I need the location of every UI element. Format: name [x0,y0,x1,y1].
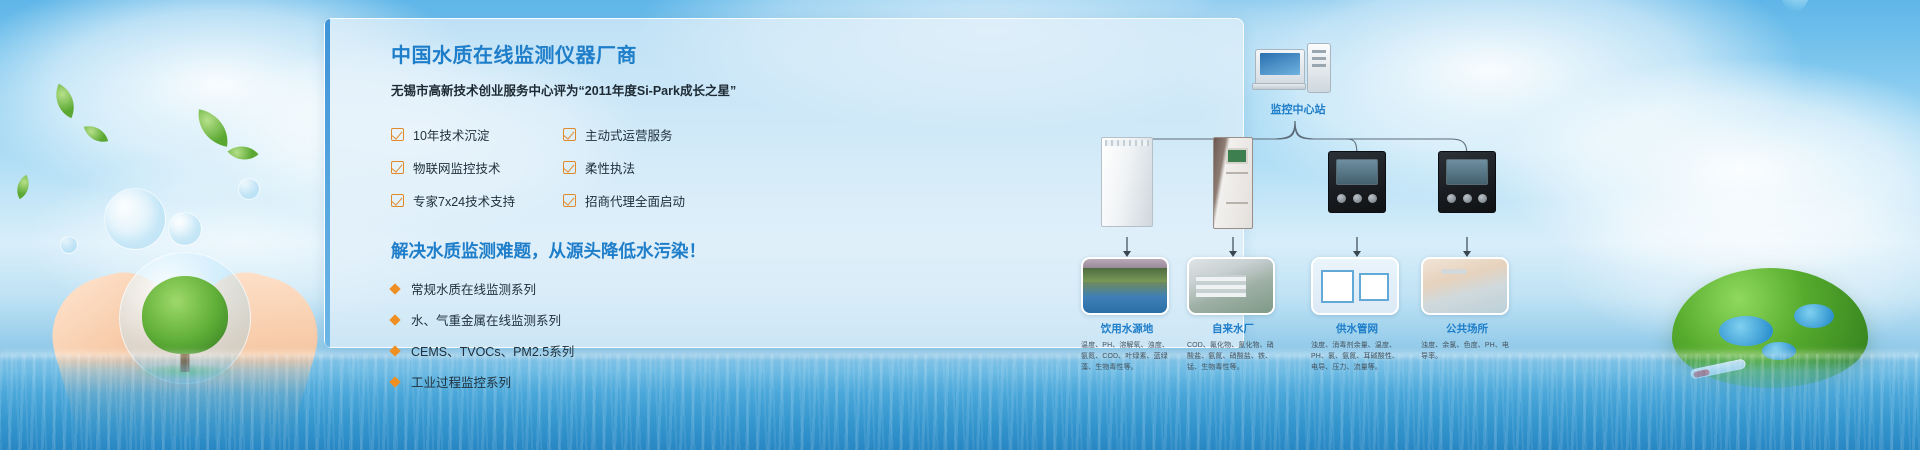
product-line-label: CEMS、TVOCs、PM2.5系列 [411,341,574,360]
panel-accent-bar [325,19,330,347]
section-title: 解决水质监测难题，从源头降低水污染！ [391,238,751,263]
product-line-item[interactable]: 工业过程监控系列 [391,372,751,391]
scene-photo-drinking-water-source [1081,257,1169,315]
leaf-icon [48,84,83,119]
analyzer-label-line [1226,172,1248,174]
controller-buttons [1447,191,1487,205]
device-water-cabinet[interactable] [1096,137,1158,227]
feature-label: 专家7x24技术支持 [413,191,515,210]
scene-card[interactable]: 饮用水源地 温度、PH、溶解氧、浊度、氨氮、COD、叶绿素、蓝绿藻、生物毒性等。 [1081,257,1173,374]
feature-item[interactable]: 10年技术沉淀 [391,125,563,144]
feature-item[interactable]: 柔性执法 [563,158,733,177]
device-plant-analyzer[interactable] [1202,137,1264,229]
product-line-list: 常规水质在线监测系列 水、气重金属在线监测系列 CEMS、TVOCs、PM2.5… [391,279,751,391]
controller-lcd [1336,159,1378,185]
page-title: 中国水质在线监测仪器厂商 [391,39,751,68]
analyzer-screen [1226,148,1248,164]
feature-item[interactable]: 主动式运营服务 [563,125,733,144]
scene-title: 供水管网 [1311,321,1403,336]
page-subtitle: 无锡市高新技术创业服务中心评为“2011年度Si-Park成长之星” [391,80,751,99]
checkbox-checked-icon [391,194,404,207]
leaf-icon [228,138,259,169]
cloud-decoration [1500,60,1920,280]
feature-list: 10年技术沉淀 主动式运营服务 物联网监控技术 柔性执法 专家7x24技术支持 … [391,125,751,210]
leaf-icon [84,122,108,146]
scene-photo-supply-network [1311,257,1399,315]
left-text-column: 中国水质在线监测仪器厂商 无锡市高新技术创业服务中心评为“2011年度Si-Pa… [391,39,751,403]
checkbox-checked-icon [563,128,576,141]
checkbox-checked-icon [563,161,576,174]
scene-photo-water-plant [1187,257,1275,315]
feature-item[interactable]: 专家7x24技术支持 [391,191,563,210]
feature-label: 10年技术沉淀 [413,125,489,144]
checkbox-checked-icon [391,128,404,141]
scene-photo-public-place [1421,257,1509,315]
feature-item[interactable]: 招商代理全面启动 [563,191,733,210]
feature-label: 物联网监控技术 [413,158,501,177]
controller-icon [1438,151,1496,213]
diamond-bullet-icon [389,283,400,294]
scene-description: COD、氟化物、氰化物、硝酸盐、氨氮、硝酸盐、铁、锰、生物毒性等。 [1187,341,1279,374]
product-line-label: 水、气重金属在线监测系列 [411,310,561,329]
diamond-bullet-icon [389,345,400,356]
scene-card[interactable]: 自来水厂 COD、氟化物、氰化物、硝酸盐、氨氮、硝酸盐、铁、锰、生物毒性等。 [1187,257,1279,374]
system-diagram: 监控中心站 [1095,39,1515,359]
diamond-bullet-icon [389,376,400,387]
scene-title: 自来水厂 [1187,321,1279,336]
product-line-label: 工业过程监控系列 [411,372,511,391]
scene-title: 公共场所 [1421,321,1513,336]
device-row [1095,137,1515,237]
feature-label: 招商代理全面启动 [585,191,685,210]
scene-title: 饮用水源地 [1081,321,1173,336]
bubble-decoration [238,178,260,200]
analyzer-cabinet-icon [1213,137,1253,229]
analyzer-cabinet-icon [1101,137,1153,227]
scene-description: 浊度、消毒剂余量、温度、PH、氯、氨氮、耳碱酸性、电导、压力、流量等。 [1311,341,1403,374]
diamond-bullet-icon [389,314,400,325]
product-line-item[interactable]: 常规水质在线监测系列 [391,279,751,298]
checkbox-checked-icon [391,161,404,174]
controller-icon [1328,151,1386,213]
controller-lcd [1446,159,1488,185]
product-line-item[interactable]: CEMS、TVOCs、PM2.5系列 [391,341,751,360]
scene-description: 浊度、余氯、色度、PH、电导率。 [1421,341,1513,363]
content-panel: 中国水质在线监测仪器厂商 无锡市高新技术创业服务中心评为“2011年度Si-Pa… [324,18,1244,348]
water-droplet-icon [1778,0,1812,12]
scene-card[interactable]: 供水管网 浊度、消毒剂余量、温度、PH、氯、氨氮、耳碱酸性、电导、压力、流量等。 [1311,257,1403,374]
tree-crown [142,276,228,354]
checkbox-checked-icon [563,194,576,207]
globe-lake [1719,316,1773,346]
device-controller-b[interactable] [1436,137,1498,213]
feature-item[interactable]: 物联网监控技术 [391,158,563,177]
controller-buttons [1337,191,1377,205]
leaf-icon [11,175,36,200]
scene-card[interactable]: 公共场所 浊度、余氯、色度、PH、电导率。 [1421,257,1513,363]
product-line-item[interactable]: 水、气重金属在线监测系列 [391,310,751,329]
device-controller-a[interactable] [1326,137,1388,213]
feature-label: 主动式运营服务 [585,125,673,144]
leaf-icon [193,109,232,146]
product-line-label: 常规水质在线监测系列 [411,279,536,298]
globe-lake [1794,304,1834,328]
water-band [0,354,1920,450]
scene-description: 温度、PH、溶解氧、浊度、氨氮、COD、叶绿素、蓝绿藻、生物毒性等。 [1081,341,1173,374]
feature-label: 柔性执法 [585,158,635,177]
